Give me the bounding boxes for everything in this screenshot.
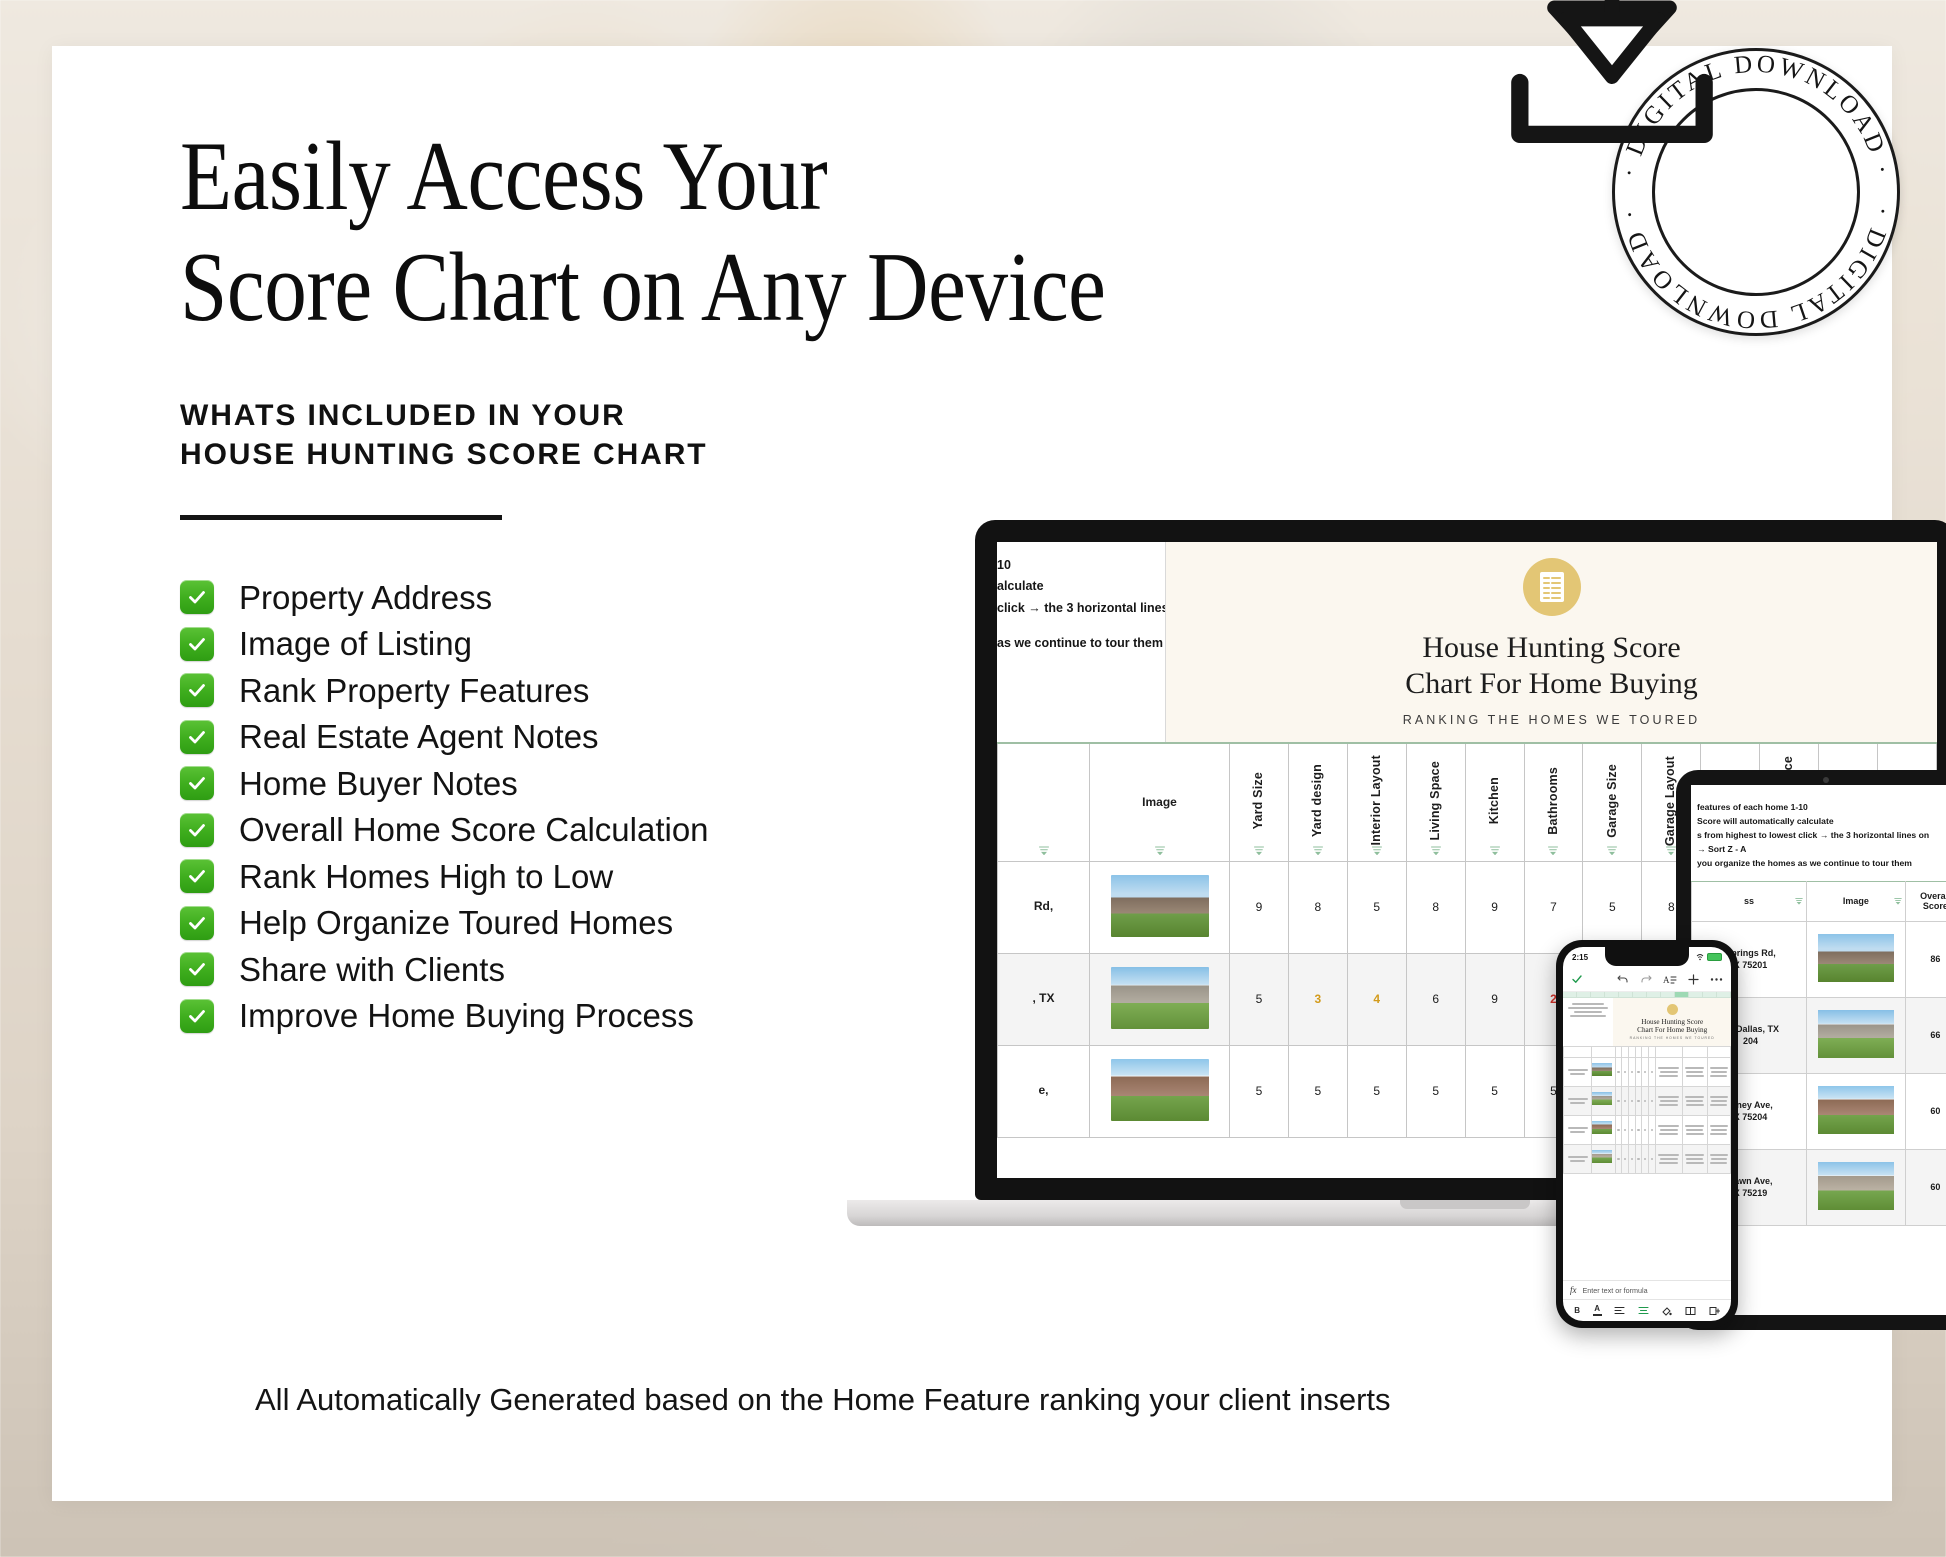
laptop-cell-score: 6 <box>1406 953 1465 1045</box>
phone-cell-score <box>1649 1058 1656 1087</box>
instruction-line: 10 <box>997 556 1159 575</box>
phone-cell-score <box>1629 1058 1636 1087</box>
laptop-cell-score: 9 <box>1465 953 1524 1045</box>
phone-body: 2:15 <box>1556 940 1738 1328</box>
laptop-cell-score: 9 <box>1230 861 1289 953</box>
phone-cell-score <box>1642 1087 1649 1116</box>
phone-cell-score <box>1635 1116 1642 1145</box>
spreadsheet-icon <box>1523 558 1581 616</box>
phone-cell-note <box>1707 1145 1730 1174</box>
phone-mockup: 2:15 <box>1556 940 1738 1328</box>
laptop-cell-address: Rd, <box>998 861 1090 953</box>
laptop-cell-score: 5 <box>1406 1045 1465 1137</box>
phone-cell-score <box>1615 1087 1622 1116</box>
phone-cell-note <box>1682 1058 1707 1087</box>
laptop-cell-score: 5 <box>1288 1045 1347 1137</box>
home-photo <box>1111 875 1209 937</box>
phone-cell-note <box>1655 1145 1682 1174</box>
table-row <box>1564 1116 1731 1145</box>
phone-cell-note <box>1707 1116 1730 1145</box>
phone-cell-note <box>1682 1087 1707 1116</box>
check-mark-button-icon <box>180 627 214 661</box>
phone-cell-score <box>1642 1116 1649 1145</box>
tablet-cell-score: 86 <box>1905 921 1946 997</box>
phone-cell-note <box>1707 1087 1730 1116</box>
phone-cell-score <box>1635 1058 1642 1087</box>
filter-arrow-icon[interactable] <box>1038 846 1049 855</box>
sheet-brand-subtitle: RANKING THE HOMES WE TOURED <box>1403 713 1701 727</box>
page-subtitle: WHATS INCLUDED IN YOUR HOUSE HUNTING SCO… <box>180 396 1270 475</box>
phone-cell-score <box>1649 1087 1656 1116</box>
phone-score-table <box>1563 1046 1731 1174</box>
redo-icon[interactable] <box>1640 974 1652 984</box>
table-row <box>1564 1058 1731 1087</box>
laptop-cell-score: 5 <box>1230 953 1289 1045</box>
laptop-cell-score: 4 <box>1347 953 1406 1045</box>
page-title: Easily Access Your Score Chart on Any De… <box>180 122 1117 344</box>
phone-header-row <box>1564 1047 1731 1058</box>
tablet-cell-score: 60 <box>1905 1073 1946 1149</box>
wifi-icon <box>1696 953 1704 961</box>
phone-spreadsheet[interactable]: House Hunting Score Chart For Home Buyin… <box>1563 992 1731 1280</box>
phone-table-body <box>1564 1058 1731 1174</box>
formula-input-placeholder[interactable]: Enter text or formula <box>1583 1286 1648 1295</box>
filter-arrow-icon[interactable] <box>1607 846 1618 855</box>
phone-cell-score <box>1642 1145 1649 1174</box>
laptop-col-header[interactable]: Living Space <box>1406 743 1465 861</box>
home-photo <box>1818 934 1894 982</box>
phone-clock: 2:15 <box>1572 953 1588 962</box>
filter-arrow-icon[interactable] <box>1894 898 1902 905</box>
laptop-cell-score: 5 <box>1347 861 1406 953</box>
sheet-instructions: 10alculateclick → the 3 horizontal lines… <box>997 542 1165 742</box>
phone-screen: 2:15 <box>1563 947 1731 1321</box>
check-mark-button-icon <box>180 999 214 1033</box>
tablet-col-header[interactable]: Image <box>1807 881 1906 921</box>
phone-formula-bar[interactable]: fx Enter text or formula <box>1563 1280 1731 1299</box>
phone-cell-address <box>1564 1116 1592 1145</box>
laptop-cell-score: 5 <box>1230 1045 1289 1137</box>
home-photo <box>1592 1063 1612 1076</box>
phone-cell-note <box>1655 1116 1682 1145</box>
laptop-cell-score: 8 <box>1406 861 1465 953</box>
phone-col-header <box>1635 1047 1642 1058</box>
sheet-header-area: 10alculateclick → the 3 horizontal lines… <box>997 542 1937 742</box>
home-photo <box>1592 1150 1612 1163</box>
filter-arrow-icon[interactable] <box>1795 898 1803 905</box>
check-mark-button-icon <box>180 952 214 986</box>
instruction-line: → Sort Z - A <box>1697 843 1946 857</box>
instruction-line: features of each home 1-10 <box>1697 801 1946 815</box>
filter-arrow-icon[interactable] <box>1371 846 1382 855</box>
phone-brand-title: House Hunting Score Chart For Home Buyin… <box>1637 1018 1707 1035</box>
tablet-cell-image <box>1807 1149 1906 1225</box>
plus-icon[interactable] <box>1688 974 1699 985</box>
phone-cell-address <box>1564 1145 1592 1174</box>
download-arrow-icon <box>1468 0 1756 192</box>
checklist-item-label: Share with Clients <box>239 953 505 986</box>
phone-cell-score <box>1615 1145 1622 1174</box>
tablet-camera-icon <box>1823 777 1829 783</box>
laptop-col-image[interactable]: Image <box>1090 743 1230 861</box>
phone-cell-note <box>1655 1058 1682 1087</box>
phone-brand-logo-icon <box>1667 1004 1678 1015</box>
instruction-line: alculate <box>997 577 1159 596</box>
phone-notch <box>1605 947 1689 966</box>
phone-col-header <box>1642 1047 1649 1058</box>
phone-col-header <box>1564 1047 1592 1058</box>
check-mark-button-icon <box>180 720 214 754</box>
phone-cell-score <box>1649 1145 1656 1174</box>
check-mark-button-icon <box>180 859 214 893</box>
phone-cell-score <box>1622 1145 1629 1174</box>
tablet-cell-score: 66 <box>1905 997 1946 1073</box>
check-mark-button-icon <box>180 673 214 707</box>
table-row <box>1564 1087 1731 1116</box>
tablet-cell-image <box>1807 997 1906 1073</box>
tablet-header-row: ssImageOverall Score <box>1692 881 1946 921</box>
instruction-line: you organize the homes as we continue to… <box>1697 857 1946 871</box>
laptop-col-header[interactable]: Bathrooms <box>1524 743 1583 861</box>
laptop-cell-address: e, <box>998 1045 1090 1137</box>
checklist-item-label: Home Buyer Notes <box>239 767 518 800</box>
phone-col-header <box>1682 1047 1707 1058</box>
fx-icon: fx <box>1570 1285 1577 1295</box>
filter-arrow-icon[interactable] <box>1312 846 1323 855</box>
digital-download-badge: · DIGITAL DOWNLOAD · · DIGITAL DOWNLOAD … <box>1612 48 1900 336</box>
fill-color-icon[interactable] <box>1661 1306 1672 1316</box>
phone-cell-score <box>1629 1087 1636 1116</box>
tablet-col-header[interactable]: Overall Score <box>1905 881 1946 921</box>
phone-col-header <box>1649 1047 1656 1058</box>
phone-col-header <box>1622 1047 1629 1058</box>
laptop-cell-score: 9 <box>1465 861 1524 953</box>
filter-arrow-icon[interactable] <box>1548 846 1559 855</box>
instruction-line: as we continue to tour them <box>997 634 1159 653</box>
checklist-item-label: Overall Home Score Calculation <box>239 813 709 846</box>
phone-cell-note <box>1682 1145 1707 1174</box>
svg-text:A: A <box>1663 975 1670 985</box>
phone-col-header <box>1655 1047 1682 1058</box>
check-mark-button-icon <box>180 580 214 614</box>
phone-col-header <box>1592 1047 1615 1058</box>
tablet-cell-image <box>1807 921 1906 997</box>
check-mark-button-icon <box>180 766 214 800</box>
home-photo <box>1818 1010 1894 1058</box>
phone-cell-score <box>1622 1087 1629 1116</box>
checklist-item-label: Real Estate Agent Notes <box>239 720 599 753</box>
home-photo <box>1592 1092 1612 1105</box>
laptop-cell-image <box>1090 953 1230 1045</box>
phone-cell-score <box>1635 1145 1642 1174</box>
text-color-icon[interactable]: A <box>1593 1305 1602 1316</box>
tablet-col-header[interactable]: ss <box>1692 881 1807 921</box>
battery-icon <box>1707 953 1722 961</box>
phone-col-header <box>1615 1047 1622 1058</box>
align-center-icon[interactable] <box>1638 1306 1649 1315</box>
phone-cell-note <box>1707 1058 1730 1087</box>
align-left-icon[interactable] <box>1614 1306 1625 1315</box>
check-mark-button-icon <box>180 906 214 940</box>
tablet-cell-score: 60 <box>1905 1149 1946 1225</box>
phone-cell-image <box>1592 1116 1615 1145</box>
text-format-icon[interactable]: A <box>1663 974 1677 985</box>
phone-cell-score <box>1622 1116 1629 1145</box>
laptop-col-header[interactable]: Interior Layout <box>1347 743 1406 861</box>
laptop-cell-address: , TX <box>998 953 1090 1045</box>
checklist-item-label: Improve Home Buying Process <box>239 999 694 1032</box>
laptop-col-header[interactable]: Kitchen <box>1465 743 1524 861</box>
tablet-instructions: features of each home 1-10Score will aut… <box>1691 785 1946 881</box>
laptop-col-header[interactable]: Yard Size <box>1230 743 1289 861</box>
laptop-col-header[interactable]: Yard design <box>1288 743 1347 861</box>
phone-cell-score <box>1642 1058 1649 1087</box>
bold-icon[interactable]: B <box>1574 1306 1580 1315</box>
sheet-brand-title: House Hunting Score Chart For Home Buyin… <box>1405 630 1698 702</box>
phone-cell-note <box>1655 1087 1682 1116</box>
sheet-brand-block: House Hunting Score Chart For Home Buyin… <box>1165 542 1937 742</box>
tablet-cell-image <box>1807 1073 1906 1149</box>
phone-col-header <box>1707 1047 1730 1058</box>
merge-cells-icon[interactable] <box>1685 1306 1696 1316</box>
divider-rule <box>180 515 502 520</box>
home-photo <box>1818 1162 1894 1210</box>
filter-arrow-icon[interactable] <box>1154 846 1165 855</box>
phone-brand-subtitle: RANKING THE HOMES WE TOURED <box>1630 1036 1715 1040</box>
phone-cell-score <box>1635 1087 1642 1116</box>
undo-icon[interactable] <box>1617 974 1629 984</box>
check-mark-button-icon <box>180 813 214 847</box>
phone-cell-image <box>1592 1145 1615 1174</box>
phone-cell-image <box>1592 1087 1615 1116</box>
checklist-item-label: Image of Listing <box>239 627 472 660</box>
phone-toolbar: A <box>1563 967 1731 992</box>
phone-cell-score <box>1615 1116 1622 1145</box>
footer-note: All Automatically Generated based on the… <box>255 1382 1391 1418</box>
phone-cell-score <box>1629 1116 1636 1145</box>
table-row <box>1564 1145 1731 1174</box>
insert-cell-icon[interactable] <box>1709 1306 1720 1316</box>
laptop-cell-score: 3 <box>1288 953 1347 1045</box>
instruction-line: s from highest to lowest click → the 3 h… <box>1697 829 1946 843</box>
phone-col-header <box>1629 1047 1636 1058</box>
filter-arrow-icon[interactable] <box>1253 846 1264 855</box>
home-photo <box>1818 1086 1894 1134</box>
more-icon[interactable] <box>1710 977 1723 982</box>
phone-format-toolbar: B A <box>1563 1299 1731 1321</box>
laptop-notch <box>1400 1200 1530 1209</box>
checklist-item-label: Property Address <box>239 581 492 614</box>
filter-arrow-icon[interactable] <box>1489 846 1500 855</box>
laptop-cell-image <box>1090 1045 1230 1137</box>
check-icon[interactable] <box>1571 973 1583 985</box>
phone-cell-image <box>1592 1058 1615 1087</box>
laptop-col-header[interactable]: Garage Size <box>1583 743 1642 861</box>
phone-cell-score <box>1649 1116 1656 1145</box>
phone-cell-address <box>1564 1058 1592 1087</box>
laptop-cell-score: 5 <box>1465 1045 1524 1137</box>
checklist-item-label: Help Organize Toured Homes <box>239 906 673 939</box>
instruction-line: click → the 3 horizontal lines on <box>997 599 1159 618</box>
checklist-item-label: Rank Property Features <box>239 674 589 707</box>
phone-brand-block: House Hunting Score Chart For Home Buyin… <box>1613 998 1731 1046</box>
phone-cell-address <box>1564 1087 1592 1116</box>
phone-cell-score <box>1615 1058 1622 1087</box>
spreadsheet-glyph <box>1537 570 1567 604</box>
phone-cell-score <box>1629 1145 1636 1174</box>
home-photo <box>1592 1121 1612 1134</box>
filter-arrow-icon[interactable] <box>1430 846 1441 855</box>
instruction-line: Score will automatically calculate <box>1697 815 1946 829</box>
phone-cell-score <box>1622 1058 1629 1087</box>
phone-cell-note <box>1682 1116 1707 1145</box>
laptop-cell-image <box>1090 861 1230 953</box>
home-photo <box>1111 967 1209 1029</box>
laptop-cell-score: 8 <box>1288 861 1347 953</box>
home-photo <box>1111 1059 1209 1121</box>
checklist-item-label: Rank Homes High to Low <box>239 860 613 893</box>
laptop-col-address[interactable] <box>998 743 1090 861</box>
laptop-cell-score: 5 <box>1347 1045 1406 1137</box>
